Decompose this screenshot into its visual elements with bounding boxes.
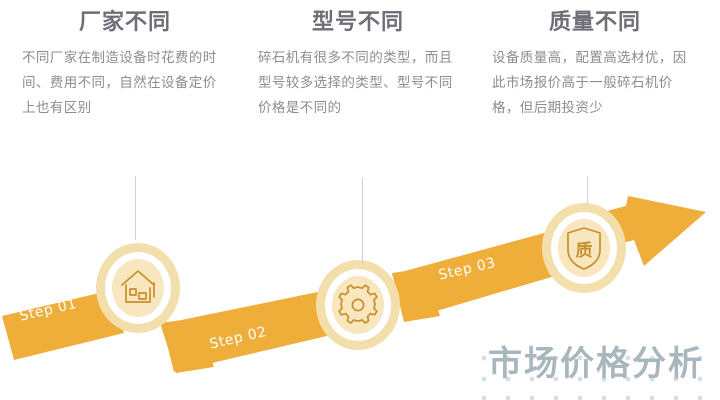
- column-2: 型号不同 碎石机有很多不同的类型，而且型号较多选择的类型、型号不同价格是不同的: [258, 8, 458, 121]
- column-2-title: 型号不同: [258, 8, 458, 38]
- step-01-badge: [96, 243, 180, 333]
- column-1-title: 厂家不同: [22, 8, 228, 38]
- column-2-body: 碎石机有很多不同的类型，而且型号较多选择的类型、型号不同价格是不同的: [258, 46, 458, 121]
- watermark-title: 市场价格分析: [488, 336, 704, 385]
- column-1: 厂家不同 不同厂家在制造设备时花费的时间、费用不同，自然在设备定价上也有区别: [22, 8, 228, 121]
- step-02-badge: [316, 260, 400, 350]
- column-3: 质量不同 设备质量高，配置高选材优，因此市场报价高于一般碎石机价格，但后期投资少: [492, 8, 698, 121]
- connector-line-1: [135, 176, 136, 240]
- connector-line-3: [587, 176, 588, 204]
- column-3-title: 质量不同: [492, 8, 698, 38]
- column-3-body: 设备质量高，配置高选材优，因此市场报价高于一般碎石机价格，但后期投资少: [492, 46, 698, 121]
- column-1-body: 不同厂家在制造设备时花费的时间、费用不同，自然在设备定价上也有区别: [22, 46, 228, 121]
- infographic-canvas: 质 厂家不同 不同厂家在制造设备时花费的时间、费用不同，自然在设备定价上也有区别…: [0, 0, 720, 400]
- step-03-badge: 质: [542, 203, 626, 293]
- shield-glyph: 质: [576, 241, 593, 261]
- connector-line-2: [362, 178, 363, 264]
